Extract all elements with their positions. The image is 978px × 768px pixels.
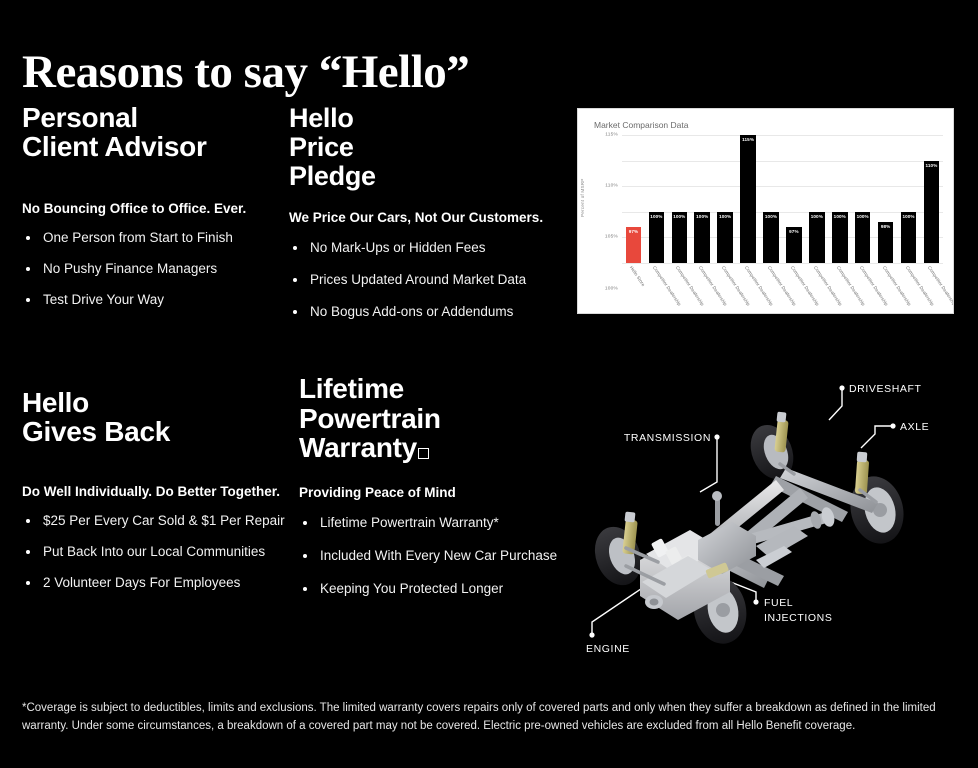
chart-bar-value-label: 97% [786, 229, 802, 234]
chart-bar-value-label: 98% [878, 224, 894, 229]
chart-bar-slot: 100% [851, 135, 874, 263]
chart-y-tick-label: 110% [605, 184, 618, 189]
chart-bars: 97%100%100%100%100%115%100%97%100%100%10… [622, 135, 943, 263]
chart-bar[interactable]: 100% [649, 212, 665, 263]
heading-line: Powertrain [299, 404, 557, 434]
chart-plot-area: 90%95%100%105%110%115% 97%100%100%100%10… [622, 135, 943, 263]
chart-bar[interactable]: 98% [878, 222, 894, 263]
list-item-label: Test Drive Your Way [43, 292, 164, 307]
chart-bar-slot: 100% [897, 135, 920, 263]
bullet-list: No Mark-Ups or Hidden Fees Prices Update… [289, 240, 543, 321]
heading-line: Hello [289, 104, 543, 133]
section-hello-gives-back: Hello Gives Back Do Well Individually. D… [22, 389, 285, 607]
list-item-label: Included With Every New Car Purchase [320, 548, 557, 563]
label-engine: ENGINE [586, 643, 630, 655]
heading-line-with-glyph: Warranty [299, 433, 557, 463]
list-item: Lifetime Powertrain Warranty* [299, 515, 557, 531]
heading-line: Gives Back [22, 418, 285, 447]
chart-bar-slot: 115% [737, 135, 760, 263]
chart-bar[interactable]: 110% [924, 161, 940, 263]
chart-x-axis-labels: Hello StoreCompetitor DealershipCompetit… [622, 265, 943, 311]
list-item: Test Drive Your Way [22, 292, 246, 308]
heading-line: Client Advisor [22, 133, 246, 162]
list-item: $25 Per Every Car Sold & $1 Per Repair [22, 513, 285, 529]
chart-bar-value-label: 100% [649, 214, 665, 219]
chart-x-label-slot: Competitor Dealership [737, 265, 760, 311]
chart-bar-value-label: 100% [763, 214, 779, 219]
chart-bar[interactable]: 100% [694, 212, 710, 263]
chart-x-label-slot: Competitor Dealership [714, 265, 737, 311]
chart-bar-value-label: 97% [626, 229, 642, 234]
list-item-label: No Bogus Add-ons or Addendums [310, 304, 513, 319]
chart-y-tick-label: 100% [605, 286, 618, 291]
list-item-label: Put Back Into our Local Communities [43, 544, 265, 559]
heading-line: Personal [22, 104, 246, 133]
list-item: No Mark-Ups or Hidden Fees [289, 240, 543, 256]
bullet-dot-icon [293, 246, 297, 250]
chart-bar-value-label: 100% [901, 214, 917, 219]
list-item: Included With Every New Car Purchase [299, 548, 557, 564]
market-comparison-chart: Market Comparison Data Percent of MSRP 9… [577, 108, 954, 314]
chart-bar-slot: 97% [622, 135, 645, 263]
chart-y-tick-label: 105% [605, 235, 618, 240]
list-item-label: Keeping You Protected Longer [320, 581, 503, 596]
chart-bar-slot: 100% [805, 135, 828, 263]
chart-bar-value-label: 110% [924, 163, 940, 168]
chart-bar-value-label: 100% [694, 214, 710, 219]
chart-x-label-slot: Competitor Dealership [851, 265, 874, 311]
chart-x-label-slot: Competitor Dealership [691, 265, 714, 311]
bullet-dot-icon [303, 587, 307, 591]
chart-title: Market Comparison Data [594, 120, 688, 130]
label-driveshaft: DRIVESHAFT [849, 383, 922, 395]
chart-x-label-slot: Competitor Dealership [782, 265, 805, 311]
section-hello-price-pledge: Hello Price Pledge We Price Our Cars, No… [289, 104, 543, 336]
heading-line: Lifetime [299, 374, 557, 404]
list-item: One Person from Start to Finish [22, 230, 246, 246]
list-item: 2 Volunteer Days For Employees [22, 575, 285, 591]
chart-y-axis-label: Percent of MSRP [580, 179, 585, 218]
bullet-dot-icon [303, 554, 307, 558]
chart-bar[interactable]: 100% [855, 212, 871, 263]
chart-bar[interactable]: 100% [763, 212, 779, 263]
bullet-dot-icon [26, 550, 30, 554]
chart-bar-slot: 97% [782, 135, 805, 263]
chart-x-label-slot: Competitor Dealership [828, 265, 851, 311]
chart-bar-slot: 100% [691, 135, 714, 263]
chart-x-label-slot: Hello Store [622, 265, 645, 311]
chart-bar[interactable]: 100% [717, 212, 733, 263]
label-fuel-line1: FUEL [764, 597, 793, 609]
chart-x-label-slot: Competitor Dealership [874, 265, 897, 311]
footer-disclaimer: *Coverage is subject to deductibles, lim… [22, 700, 954, 736]
bullet-list: $25 Per Every Car Sold & $1 Per Repair P… [22, 513, 285, 592]
list-item-label: No Pushy Finance Managers [43, 261, 217, 276]
bullet-dot-icon [293, 278, 297, 282]
chart-x-label-slot: Competitor Dealership [668, 265, 691, 311]
chart-bar[interactable]: 115% [740, 135, 756, 263]
chart-bar-value-label: 100% [809, 214, 825, 219]
list-item-label: $25 Per Every Car Sold & $1 Per Repair [43, 513, 285, 528]
section-subheading: Providing Peace of Mind [299, 485, 557, 500]
bullet-dot-icon [26, 298, 30, 302]
chart-bar[interactable]: 100% [901, 212, 917, 263]
chart-bar-value-label: 100% [672, 214, 688, 219]
list-item-label: One Person from Start to Finish [43, 230, 233, 245]
chart-gridline: 90% [622, 263, 943, 264]
chart-bar-slot: 98% [874, 135, 897, 263]
section-heading: Hello Price Pledge [289, 104, 543, 191]
chart-y-tick-label: 115% [605, 133, 618, 138]
label-axle: AXLE [900, 421, 929, 433]
page-title: Reasons to say “Hello” [22, 47, 469, 99]
chart-bar[interactable]: 100% [832, 212, 848, 263]
list-item: No Pushy Finance Managers [22, 261, 246, 277]
chart-bar-highlighted[interactable]: 97% [626, 227, 642, 263]
section-subheading: We Price Our Cars, Not Our Customers. [289, 210, 543, 225]
chart-x-label-slot: Competitor Dealership [805, 265, 828, 311]
bullet-dot-icon [26, 267, 30, 271]
section-subheading: No Bouncing Office to Office. Ever. [22, 201, 246, 216]
bullet-dot-icon [293, 310, 297, 314]
chart-bar[interactable]: 97% [786, 227, 802, 263]
section-heading: Hello Gives Back [22, 389, 285, 446]
list-item: Prices Updated Around Market Data [289, 272, 543, 288]
list-item: Put Back Into our Local Communities [22, 544, 285, 560]
chart-x-label-slot: Competitor Dealership [897, 265, 920, 311]
section-subheading: Do Well Individually. Do Better Together… [22, 484, 285, 499]
section-heading: Lifetime Powertrain Warranty [299, 374, 557, 463]
chart-bar-slot: 100% [760, 135, 783, 263]
missing-glyph-box-icon [418, 448, 429, 459]
list-item-label: Lifetime Powertrain Warranty* [320, 515, 499, 530]
chart-bar-slot: 100% [668, 135, 691, 263]
list-item: Keeping You Protected Longer [299, 581, 557, 597]
chart-bar[interactable]: 100% [672, 212, 688, 263]
bullet-dot-icon [26, 581, 30, 585]
bullet-list: Lifetime Powertrain Warranty* Included W… [299, 515, 557, 598]
list-item: No Bogus Add-ons or Addendums [289, 304, 543, 320]
chart-bar-slot: 110% [920, 135, 943, 263]
list-item-label: Prices Updated Around Market Data [310, 272, 526, 287]
heading-line: Hello [22, 389, 285, 418]
chart-bar-slot: 100% [828, 135, 851, 263]
bullet-dot-icon [303, 521, 307, 525]
section-personal-client-advisor: Personal Client Advisor No Bouncing Offi… [22, 104, 246, 324]
chassis-diagram: DRIVESHAFT AXLE TRANSMISSION ENGINE FUEL… [580, 370, 960, 660]
list-item-label: 2 Volunteer Days For Employees [43, 575, 240, 590]
bullet-dot-icon [26, 236, 30, 240]
label-transmission: TRANSMISSION [624, 432, 711, 444]
bullet-dot-icon [26, 519, 30, 523]
list-item-label: No Mark-Ups or Hidden Fees [310, 240, 486, 255]
section-lifetime-powertrain-warranty: Lifetime Powertrain Warranty Providing P… [299, 374, 557, 615]
chart-bar-value-label: 100% [832, 214, 848, 219]
chart-bar-slot: 100% [714, 135, 737, 263]
chart-bar-slot: 100% [645, 135, 668, 263]
section-heading: Personal Client Advisor [22, 104, 246, 161]
chart-bar-value-label: 115% [740, 137, 756, 142]
bullet-list: One Person from Start to Finish No Pushy… [22, 230, 246, 309]
chart-x-label-slot: Competitor Dealership [645, 265, 668, 311]
chart-bar[interactable]: 100% [809, 212, 825, 263]
heading-line: Price [289, 133, 543, 162]
chart-x-label-slot: Competitor Dealership [920, 265, 943, 311]
chart-bar-value-label: 100% [717, 214, 733, 219]
slide-page: Reasons to say “Hello” Personal Client A… [0, 0, 978, 768]
heading-line: Warranty [299, 432, 417, 463]
heading-line: Pledge [289, 162, 543, 191]
chart-x-label-slot: Competitor Dealership [760, 265, 783, 311]
label-fuel-line2: INJECTIONS [764, 612, 832, 624]
chart-bar-value-label: 100% [855, 214, 871, 219]
chart-x-tick-label: Competitor Dealership [927, 265, 954, 307]
